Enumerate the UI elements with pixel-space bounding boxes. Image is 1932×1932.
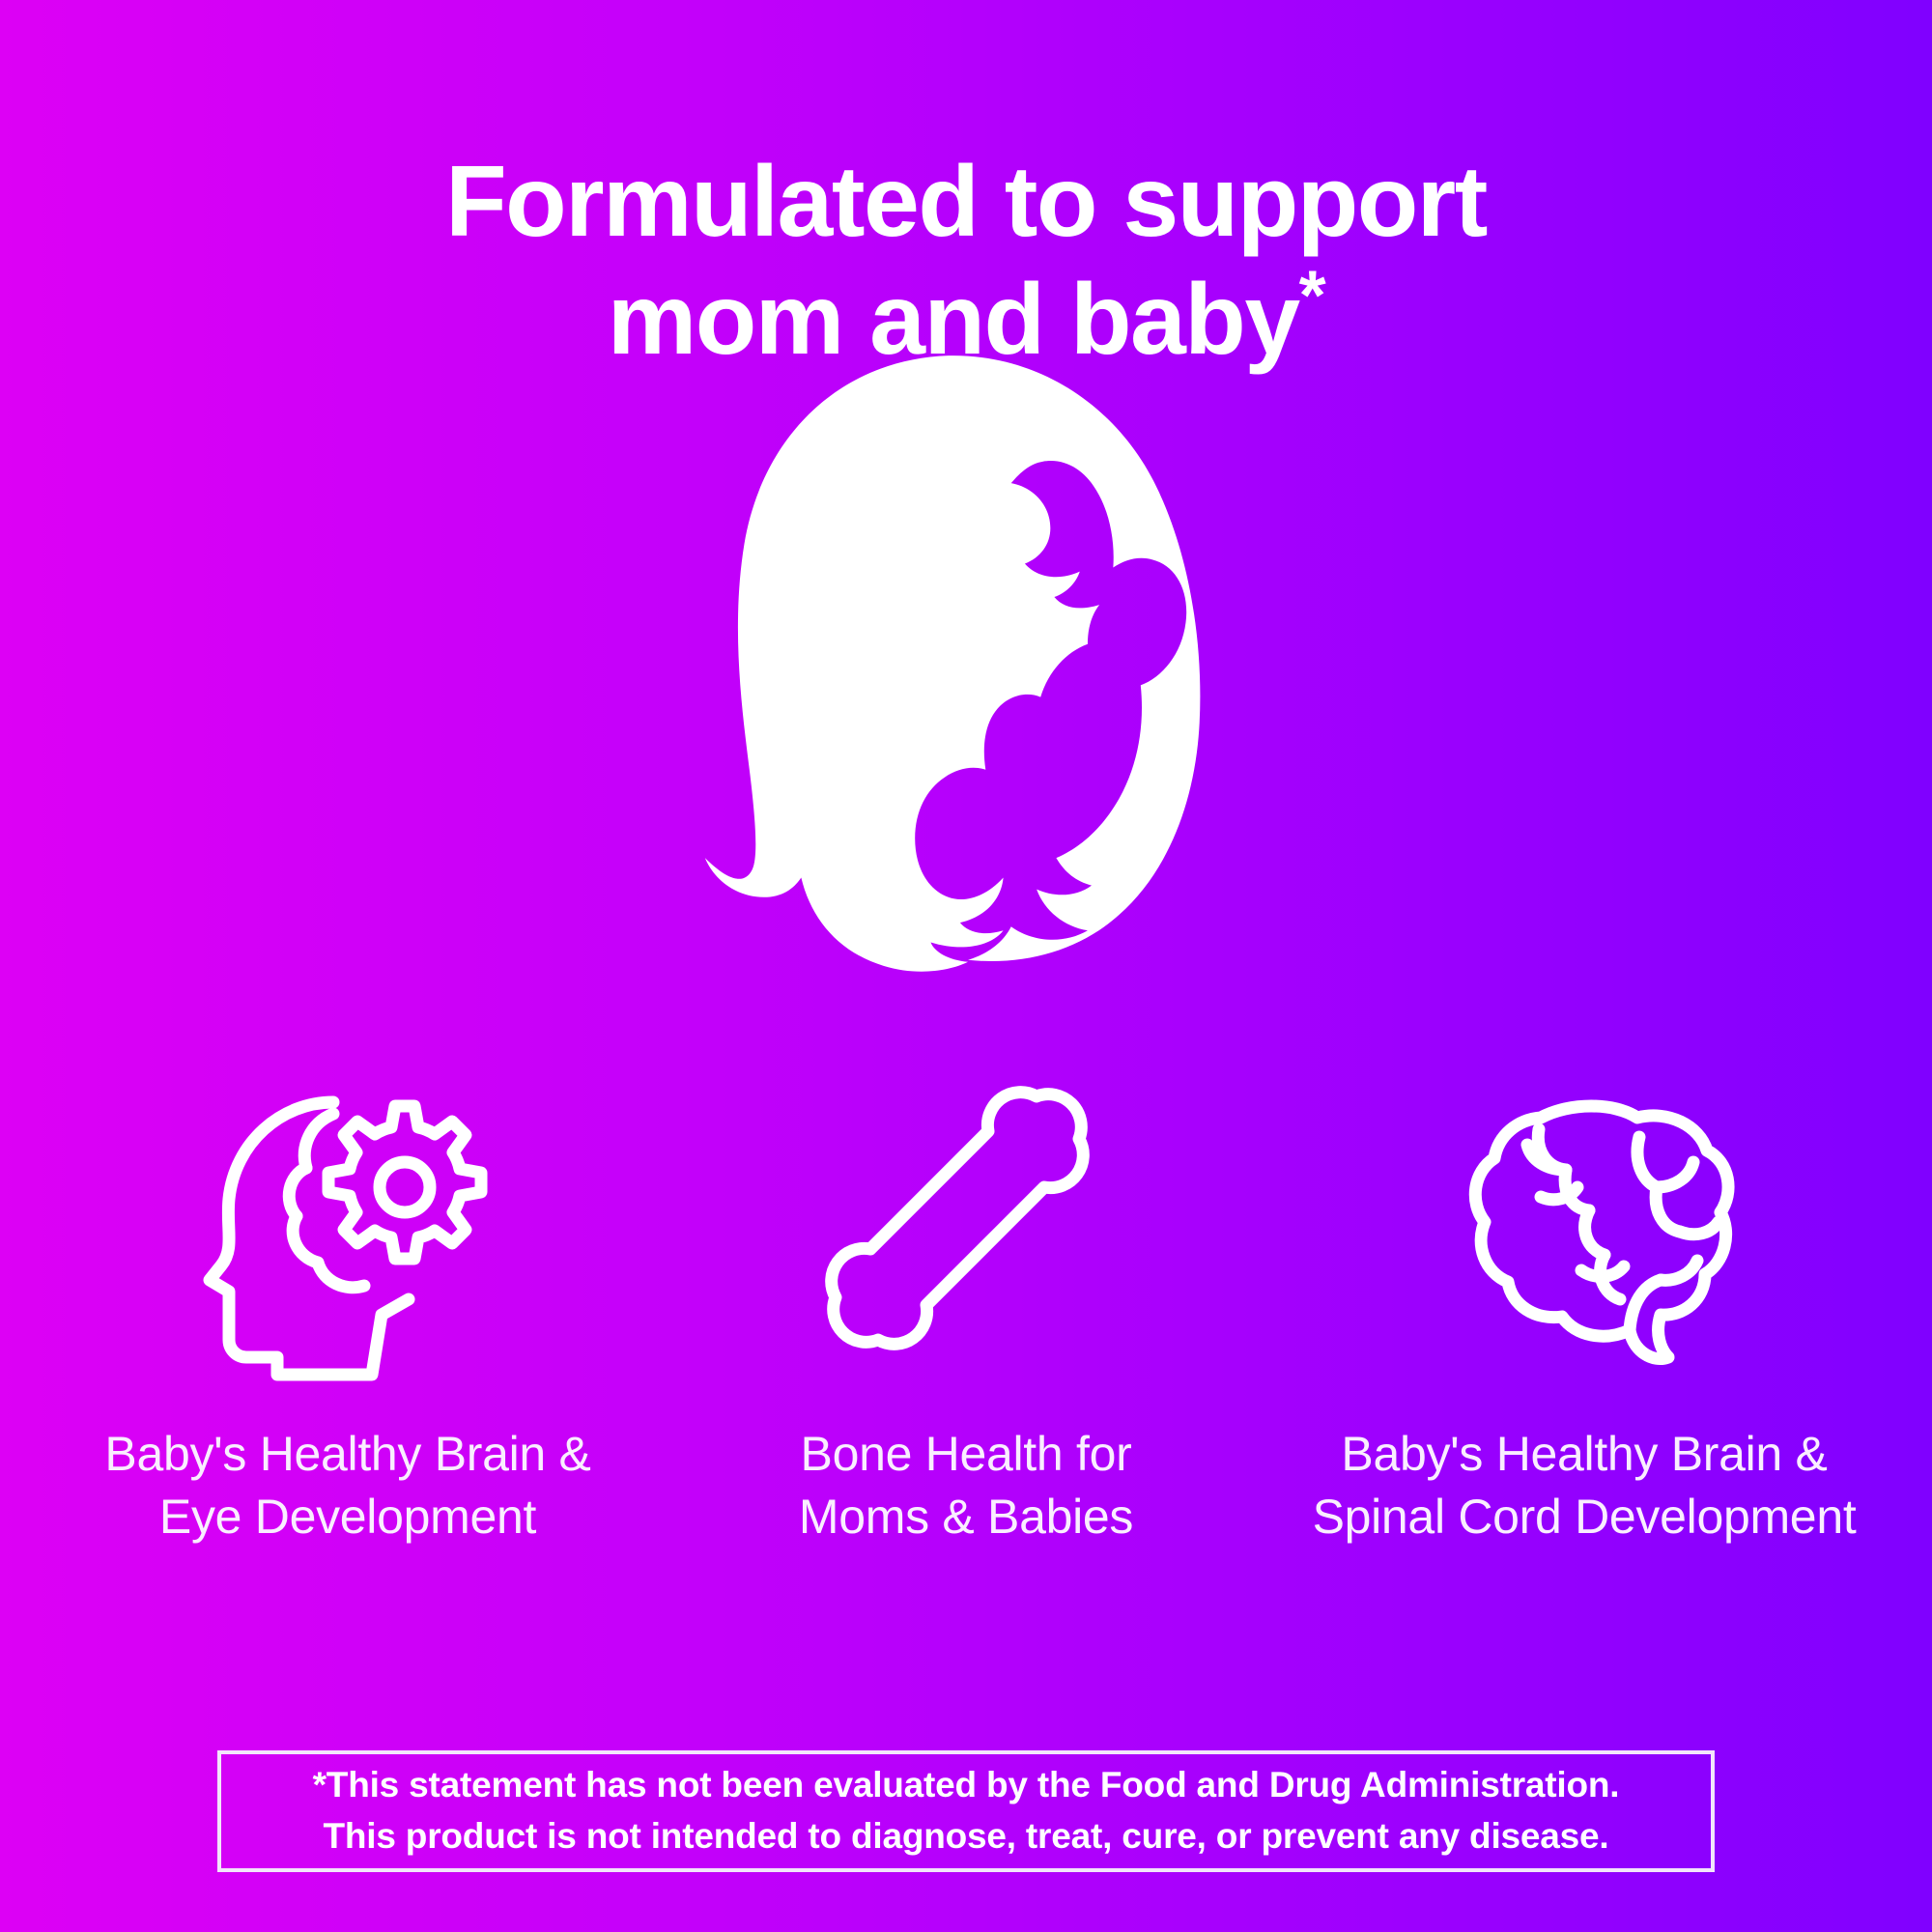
feature-label: Baby's Healthy Brain & Spinal Cord Devel… xyxy=(1313,1423,1857,1548)
bone-icon xyxy=(807,1067,1125,1386)
feature-item-bone-health: Bone Health for Moms & Babies xyxy=(657,1067,1275,1548)
mother-and-baby-silhouette-icon xyxy=(686,348,1246,976)
head-with-gear-icon xyxy=(188,1067,507,1386)
feature-item-spinal-cord: Baby's Healthy Brain & Spinal Cord Devel… xyxy=(1275,1067,1893,1548)
page-title: Formulated to support mom and baby* xyxy=(0,143,1932,380)
feature-row: Baby's Healthy Brain & Eye Development B… xyxy=(39,1067,1893,1548)
feature-item-brain-eye: Baby's Healthy Brain & Eye Development xyxy=(39,1067,657,1548)
disclaimer-text: *This statement has not been evaluated b… xyxy=(313,1760,1620,1861)
brain-icon xyxy=(1425,1067,1744,1386)
headline-text: Formulated to support mom and baby xyxy=(445,146,1487,377)
feature-label: Bone Health for Moms & Babies xyxy=(799,1423,1133,1548)
feature-label: Baby's Healthy Brain & Eye Development xyxy=(104,1423,590,1548)
headline-footnote-marker: * xyxy=(1299,258,1325,335)
disclaimer-box: *This statement has not been evaluated b… xyxy=(217,1750,1715,1872)
promo-poster: Formulated to support mom and baby* xyxy=(0,0,1932,1932)
